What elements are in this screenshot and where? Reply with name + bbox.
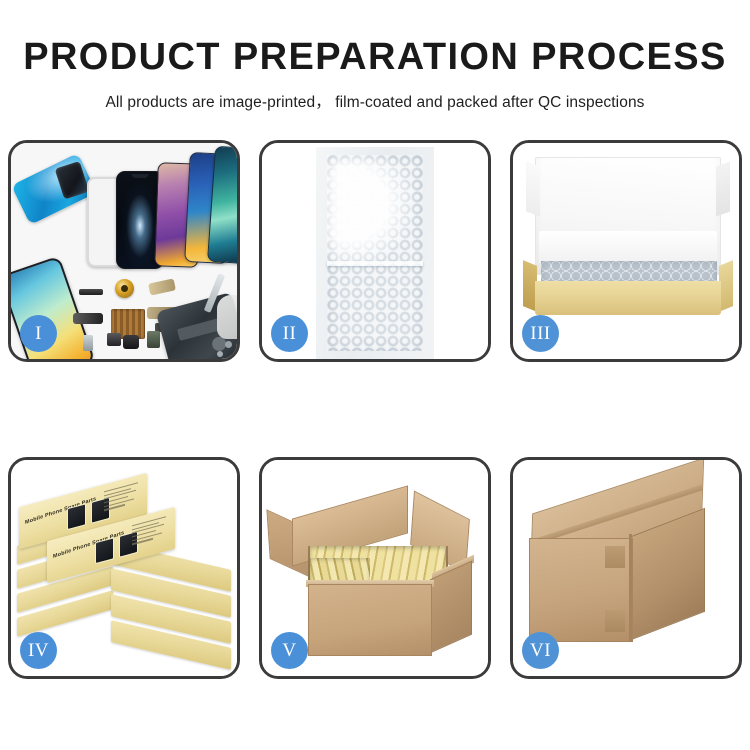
step-badge-2: II: [271, 315, 308, 352]
screw-2: [235, 349, 237, 355]
hand-holding-tool: [217, 295, 237, 339]
page-title: PRODUCT PREPARATION PROCESS: [0, 0, 750, 76]
step-badge-3: III: [522, 315, 559, 352]
box-screen-window-1: [67, 503, 86, 530]
process-panel-5[interactable]: V: [259, 457, 491, 679]
mailer-box-bubble-fill: [541, 261, 717, 283]
screw-3: [217, 351, 223, 357]
process-panel-1[interactable]: I: [8, 140, 240, 362]
step-badge-4: IV: [20, 632, 57, 669]
spare-part-copper-coil: [115, 279, 134, 298]
mailer-box-foam-sheet: [539, 231, 717, 263]
product-preparation-process-page: PRODUCT PREPARATION PROCESS All products…: [0, 0, 750, 750]
spare-part-speaker-module: [107, 333, 121, 346]
sealed-carton-tab-upper: [605, 546, 625, 568]
step-badge-6: VI: [522, 632, 559, 669]
bubble-wrap-bubbles: [327, 155, 423, 351]
spare-part-camera-module: [123, 335, 139, 349]
box-spec-lines-second: [132, 515, 170, 553]
spare-part-battery-tab: [147, 331, 160, 348]
sealed-carton-tab-lower: [605, 610, 625, 632]
spare-part-flex-cable-gold: [148, 278, 176, 295]
screw-1: [225, 341, 232, 348]
sealed-carton-vertical-edge: [629, 534, 632, 642]
process-panel-6[interactable]: VI: [510, 457, 742, 679]
box-screen-window-3: [95, 537, 114, 564]
process-panel-grid: I II III: [8, 140, 742, 680]
step-badge-5: V: [271, 632, 308, 669]
header: PRODUCT PREPARATION PROCESS All products…: [0, 0, 750, 112]
spare-part-flex-cable-dark: [73, 313, 103, 324]
page-subtitle: All products are image-printed， film-coa…: [0, 76, 750, 112]
process-panel-2[interactable]: II: [259, 140, 491, 362]
process-panel-3[interactable]: III: [510, 140, 742, 362]
mailer-box-kraft-front: [535, 281, 721, 315]
process-panel-4[interactable]: Mobile Phone Spare Parts Mobile Phone Sp…: [8, 457, 240, 679]
box-spec-lines-top: [104, 481, 142, 519]
mailer-box-right-side: [719, 260, 733, 312]
step-badge-1: I: [20, 315, 57, 352]
spare-part-connector-silver: [83, 335, 93, 351]
spare-part-black-bar: [79, 289, 103, 295]
carton-front-panel: [308, 584, 432, 656]
bubble-wrap-seam: [327, 261, 423, 266]
phone-screen-blue-tilted: [11, 153, 97, 225]
